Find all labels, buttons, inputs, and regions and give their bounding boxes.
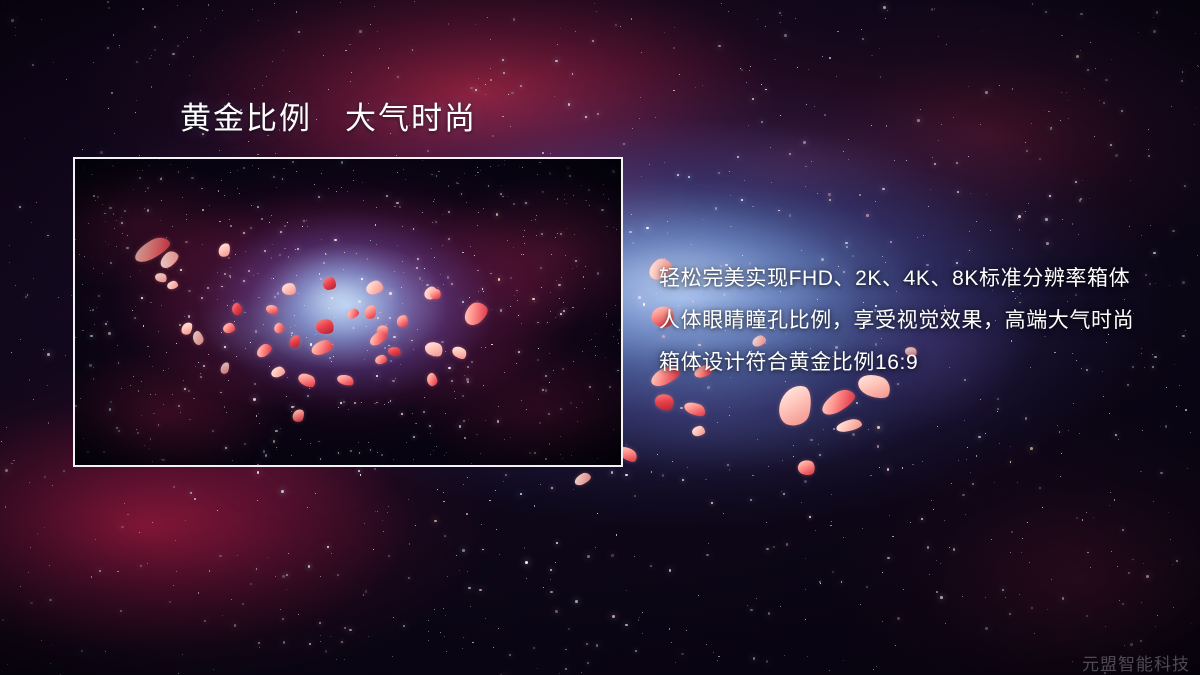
framed-photo — [73, 157, 623, 467]
page-title: 黄金比例 大气时尚 — [180, 102, 477, 136]
slide-canvas: 黄金比例 大气时尚 轻松完美实现FHD、2K、4K、8K标准分辨率箱体 人体眼睛… — [0, 0, 1200, 675]
watermark-logo-text: 元盟智能科技 — [1082, 650, 1190, 675]
body-line-3: 箱体设计符合黄金比例16:9 — [659, 342, 1179, 384]
body-line-2: 人体眼睛瞳孔比例，享受视觉效果，高端大气时尚 — [659, 300, 1179, 342]
photo-vignette — [75, 159, 621, 465]
photo-inner — [75, 159, 621, 465]
body-line-1: 轻松完美实现FHD、2K、4K、8K标准分辨率箱体 — [659, 258, 1179, 300]
body-text-block: 轻松完美实现FHD、2K、4K、8K标准分辨率箱体 人体眼睛瞳孔比例，享受视觉效… — [659, 258, 1179, 384]
